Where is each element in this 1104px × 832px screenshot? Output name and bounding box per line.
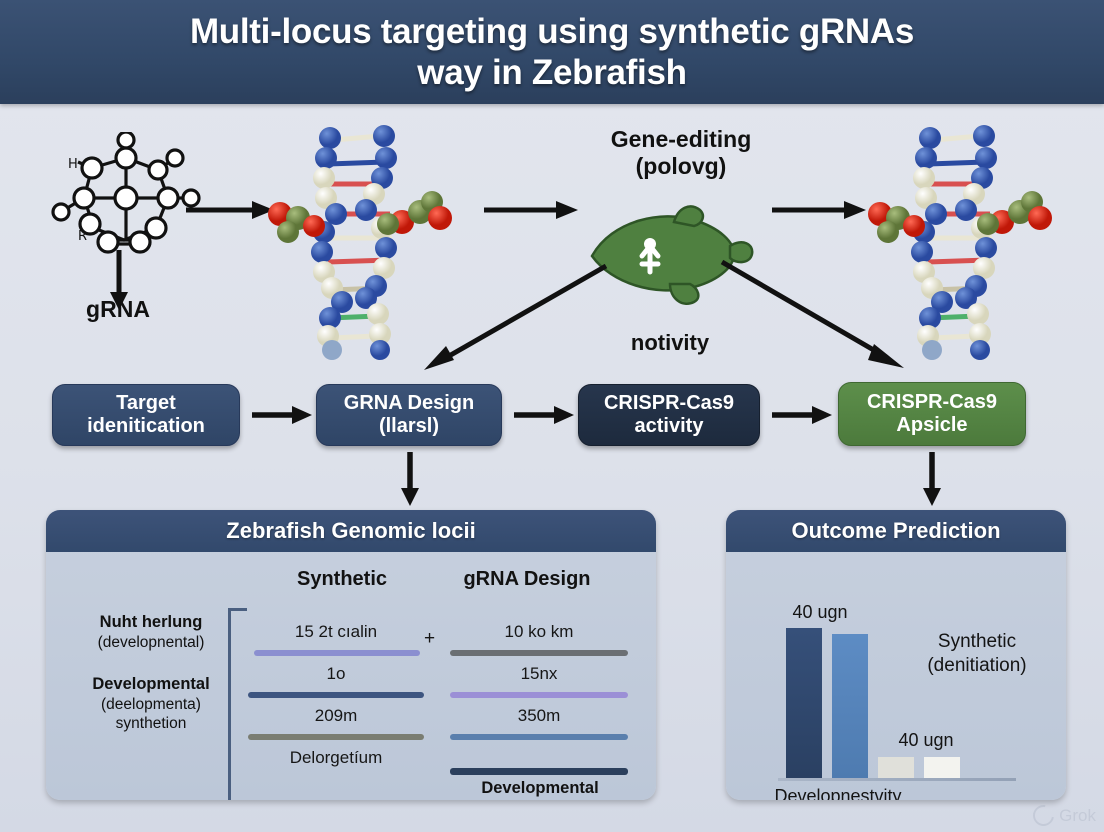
watermark-ring-icon [1029, 801, 1058, 830]
loci-panel-header: Zebrafish Genomic locii [46, 510, 656, 552]
loci-right-bar-3 [450, 734, 628, 740]
loci-left-value-2: 1o [252, 664, 420, 684]
loci-row-label-1: Nuht herlung (developnental) [58, 612, 244, 652]
page-title: Multi-locus targeting using synthetic gR… [150, 11, 954, 94]
step-line-1: Target [87, 392, 205, 415]
loci-panel-footer: Developmental (Seveppediro) [442, 778, 638, 800]
footer-bold: Developmental [481, 779, 598, 797]
step-line-1: CRISPR-Cas9 [867, 391, 997, 414]
gene-editing-line-1: Gene-editing [556, 126, 806, 153]
loci-right-value-1: 10 ko km [450, 622, 628, 642]
arrow-organism-to-dna-right [772, 198, 868, 222]
chart-x-axis [778, 778, 1016, 781]
arrow-organism-to-apsicle [718, 258, 908, 374]
arrow-apsicle-to-outcome-panel [921, 452, 943, 508]
loci-left-value-3: 209m [252, 706, 420, 726]
arrow-dna-to-organism [484, 198, 580, 222]
arrow-organism-to-grna-design [420, 262, 610, 374]
gene-editing-line-2: (polovg) [556, 153, 806, 180]
legend-line-2: (denitiation) [902, 654, 1052, 678]
watermark: Grok [1033, 805, 1096, 826]
loci-right-value-2: 15nx [450, 664, 628, 684]
loci-left-bar-1 [254, 650, 420, 656]
chart-bar-3[interactable] [878, 757, 914, 778]
process-step-crispr-cas9-activity[interactable]: CRISPR-Cas9 activity [578, 384, 760, 446]
loci-left-bar-3 [248, 734, 424, 740]
process-step-grna-design[interactable]: GRNA Design (llarsl) [316, 384, 502, 446]
legend-line-1: Synthetic [902, 630, 1052, 654]
loci-left-value-1: 15 2t cıalin [252, 622, 420, 642]
loci-right-bar-2 [450, 692, 628, 698]
step-line-2: Apsicle [867, 414, 997, 437]
row-label-sub: (developnental) [98, 634, 205, 651]
loci-plus-symbol: + [424, 628, 435, 650]
loci-column-header-grna-design: gRNA Design [432, 568, 622, 591]
row-label-bold: Developmental [92, 675, 209, 693]
chart-panel-header: Outcome Prediction [726, 510, 1066, 552]
arrow-step1-to-step2 [252, 404, 314, 426]
arrow-grna-design-to-loci-panel [399, 452, 421, 508]
bar-label-3: 40 ugn [866, 730, 986, 751]
step-line-2: idenitication [87, 415, 205, 438]
loci-right-value-3: 350m [450, 706, 628, 726]
step-line-2: (llarsl) [344, 415, 474, 438]
infographic-canvas: Multi-locus targeting using synthetic gR… [0, 0, 1104, 832]
step-line-1: CRISPR-Cas9 [604, 392, 734, 415]
svg-text:R: R [78, 229, 87, 244]
loci-panel-body: Synthetic gRNA Design Nuht herlung (deve… [46, 552, 656, 800]
title-line-1: Multi-locus targeting using synthetic gR… [190, 11, 914, 52]
chart-bar-2[interactable] [832, 634, 868, 778]
chart-x-axis-label: Developnestvity [726, 786, 1008, 800]
watermark-text: Grok [1059, 806, 1096, 826]
loci-column-header-synthetic: Synthetic [252, 568, 432, 591]
row-label-sub2: synthetion [116, 715, 187, 732]
loci-left-value-4: Delorgetíum [248, 748, 424, 768]
chart-bar-1[interactable] [786, 628, 822, 778]
loci-right-bar-4 [450, 768, 628, 775]
bar-label-1: 40 ugn [760, 602, 880, 623]
row-label-bold: Nuht herlung [100, 613, 203, 631]
title-banner: Multi-locus targeting using synthetic gR… [0, 0, 1104, 104]
step-line-2: activity [604, 415, 734, 438]
step-line-1: GRNA Design [344, 392, 474, 415]
process-step-crispr-cas9-apsicle[interactable]: CRISPR-Cas9 Apsicle [838, 382, 1026, 446]
process-step-target-identification[interactable]: Target idenitication [52, 384, 240, 446]
arrow-step3-to-step4 [772, 404, 834, 426]
chart-plot-area: 40 ugn 40 ugn Synthetic (denitiation) De… [726, 552, 1066, 800]
chart-bar-4[interactable] [924, 757, 960, 778]
loci-left-bar-2 [248, 692, 424, 698]
svg-text:H: H [68, 157, 78, 172]
loci-grouping-bracket [228, 608, 247, 800]
zebrafish-genomic-loci-panel: Zebrafish Genomic locii Synthetic gRNA D… [46, 510, 656, 800]
title-line-2: way in Zebrafish [190, 52, 914, 93]
arrow-step2-to-step3 [514, 404, 576, 426]
loci-right-bar-1 [450, 650, 628, 656]
outcome-prediction-panel: Outcome Prediction 40 ugn 40 ugn Synthet… [726, 510, 1066, 800]
gene-editing-label: Gene-editing (polovg) [556, 126, 806, 180]
chart-legend: Synthetic (denitiation) [902, 630, 1052, 678]
loci-row-label-2: Developmental (deelopmenta) synthetion [58, 674, 244, 734]
grna-label: gRNA [58, 296, 178, 323]
row-label-sub: (deelopmenta) [101, 696, 201, 713]
